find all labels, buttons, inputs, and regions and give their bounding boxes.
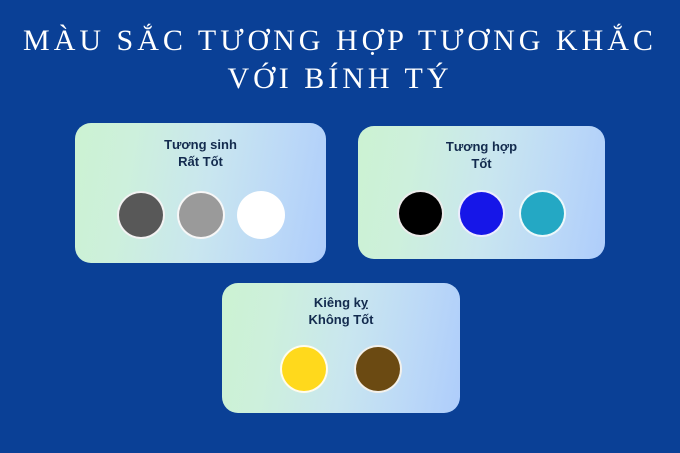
card-kieng-ky-title: Kiêng kỵ xyxy=(314,295,368,310)
card-tuong-hop-title: Tương hợp xyxy=(446,139,517,154)
card-tuong-hop-subtitle: Tốt xyxy=(358,155,605,172)
card-tuong-sinh: Tương sinh Rất Tốt xyxy=(75,123,326,263)
swatch-white[interactable] xyxy=(237,191,285,239)
swatch-black[interactable] xyxy=(397,190,444,237)
title-line-1: MÀU SẮC TƯƠNG HỢP TƯƠNG KHẮC xyxy=(0,22,680,60)
card-tuong-sinh-title: Tương sinh xyxy=(164,137,237,152)
card-tuong-hop: Tương hợp Tốt xyxy=(358,126,605,259)
card-tuong-hop-swatch-row xyxy=(358,190,605,237)
card-kieng-ky-subtitle: Không Tốt xyxy=(222,311,460,328)
card-tuong-sinh-heading: Tương sinh Rất Tốt xyxy=(75,136,326,170)
page-title: MÀU SẮC TƯƠNG HỢP TƯƠNG KHẮC VỚI BÍNH TÝ xyxy=(0,22,680,98)
card-tuong-sinh-swatch-row xyxy=(75,191,326,239)
infographic-canvas: MÀU SẮC TƯƠNG HỢP TƯƠNG KHẮC VỚI BÍNH TÝ… xyxy=(0,0,680,453)
card-kieng-ky-swatch-row xyxy=(222,345,460,393)
card-tuong-hop-heading: Tương hợp Tốt xyxy=(358,138,605,172)
swatch-dark-gray[interactable] xyxy=(117,191,165,239)
swatch-gray[interactable] xyxy=(177,191,225,239)
title-line-2: VỚI BÍNH TÝ xyxy=(0,60,680,98)
swatch-blue[interactable] xyxy=(458,190,505,237)
swatch-yellow[interactable] xyxy=(280,345,328,393)
card-kieng-ky: Kiêng kỵ Không Tốt xyxy=(222,283,460,413)
swatch-brown[interactable] xyxy=(354,345,402,393)
card-kieng-ky-heading: Kiêng kỵ Không Tốt xyxy=(222,294,460,328)
card-tuong-sinh-subtitle: Rất Tốt xyxy=(75,153,326,170)
swatch-teal[interactable] xyxy=(519,190,566,237)
